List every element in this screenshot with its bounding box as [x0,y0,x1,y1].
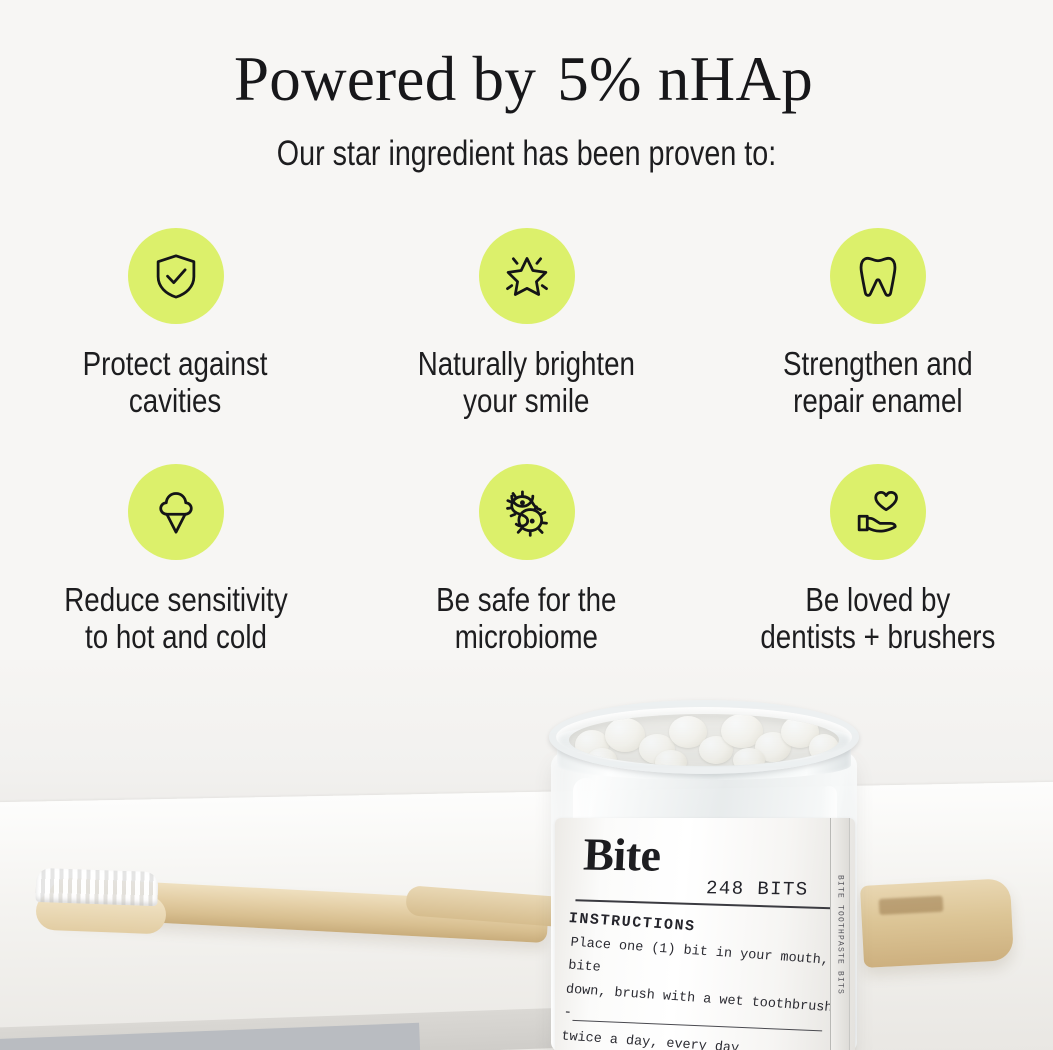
shield-check-icon [128,228,224,324]
benefit-item: Be safe for the microbiome [351,464,702,656]
benefit-item: Naturally brighten your smile [351,228,702,420]
label-divider [575,899,831,909]
headline-plain-text: Powered by [234,44,536,114]
instructions-body: Place one (1) bit in your mouth, bite do… [560,932,850,1050]
subheading: Our star ingredient has been proven to: [95,135,958,174]
benefit-item: Strengthen and repair enamel [702,228,1053,420]
bamboo-toothbrush-left [6,858,566,978]
hand-heart-icon [830,464,926,560]
headline-block: Powered by 5% nHAp Our star ingredient h… [0,0,1053,174]
page-title: Powered by 5% nHAp [0,0,1053,111]
headline-highlight: 5% nHAp [552,48,819,111]
bamboo-toothbrush-right [860,878,1014,968]
label-side-label: BITE TOOTHPASTE BITS [836,875,845,995]
brand-logo: Bite [582,832,661,879]
headline-highlight-text: 5% nHAp [557,44,813,114]
benefit-item: Reduce sensitivity to hot and cold [0,464,351,656]
benefit-label: Protect against cavities [83,346,268,420]
microbe-icon [479,464,575,560]
benefit-item: Be loved by dentists + brushers [702,464,1053,656]
tooth-icon [830,228,926,324]
benefit-label: Strengthen and repair enamel [783,346,973,420]
label-content: Bite 248 BITS INSTRUCTIONS Place one (1)… [555,818,855,1050]
benefit-label: Reduce sensitivity to hot and cold [64,582,287,656]
bits-count: 248 BITS [706,877,809,900]
benefit-label: Naturally brighten your smile [418,346,635,420]
instructions-heading: INSTRUCTIONS [568,910,696,935]
product-photo: Bite 248 BITS INSTRUCTIONS Place one (1)… [0,660,1053,1050]
product-jar: Bite 248 BITS INSTRUCTIONS Place one (1)… [543,700,865,1050]
marketing-infographic: Powered by 5% nHAp Our star ingredient h… [0,0,1053,1050]
jar-rim [549,700,859,774]
ice-cream-cone-icon [128,464,224,560]
label-side-text: BITE TOOTHPASTE BITS [830,818,850,1050]
product-label: Bite 248 BITS INSTRUCTIONS Place one (1)… [555,818,855,1050]
benefit-label: Be safe for the microbiome [436,582,616,656]
benefit-grid: Protect against cavities Naturally brigh… [0,228,1053,656]
benefit-label: Be loved by dentists + brushers [760,582,995,656]
toothbrush-bristles [35,868,158,906]
benefit-item: Protect against cavities [0,228,351,420]
sparkle-star-icon [479,228,575,324]
